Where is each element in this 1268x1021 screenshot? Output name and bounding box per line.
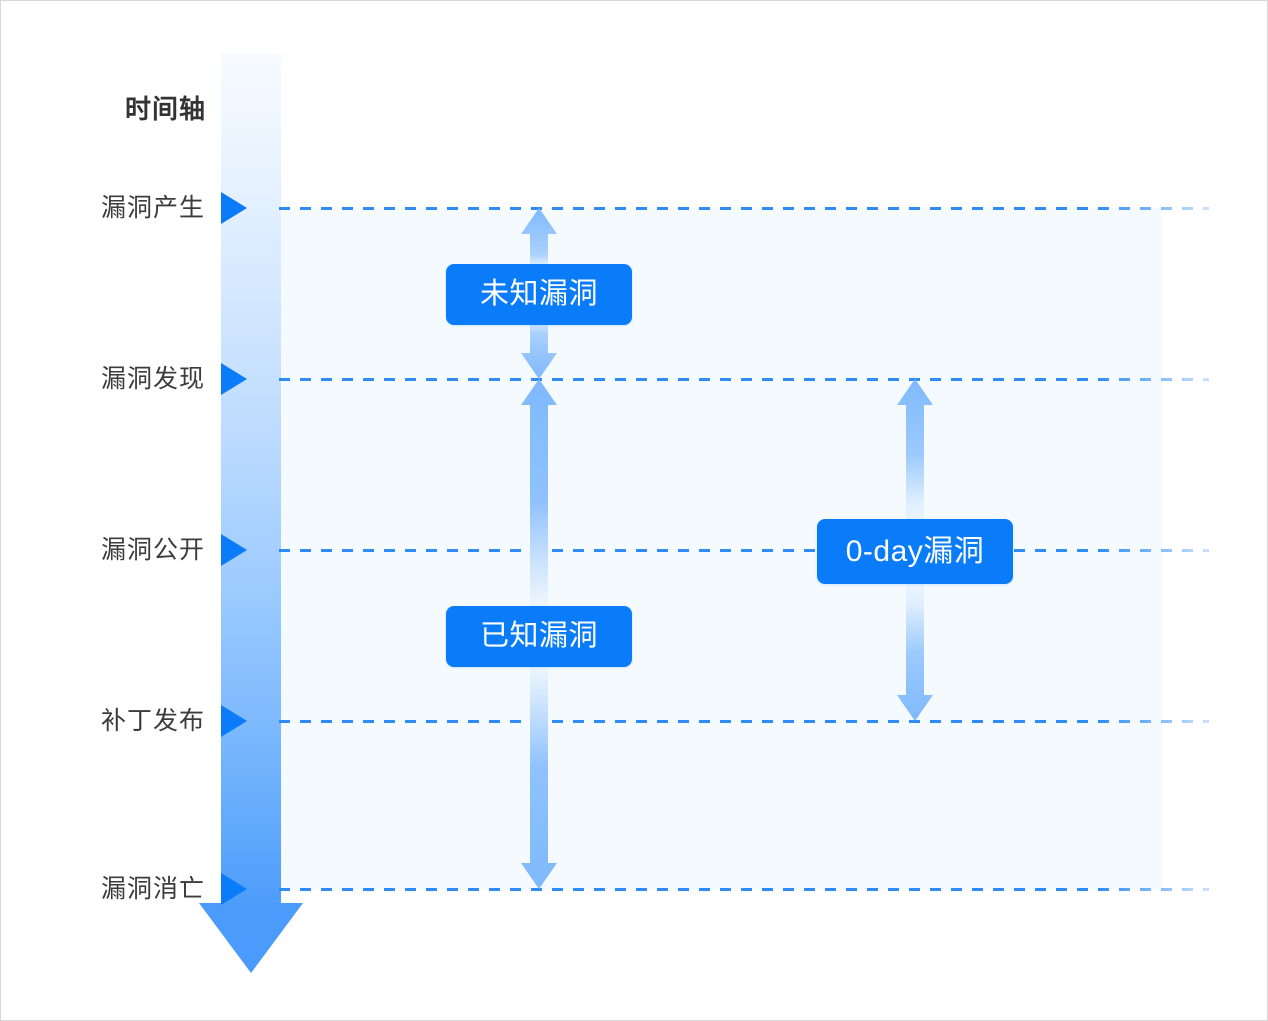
timeline-bar [221, 53, 281, 905]
label-box-known-vulnerability[interactable]: 已知漏洞 [446, 606, 632, 667]
label-box-zero-day-vulnerability[interactable]: 0-day漏洞 [817, 519, 1013, 584]
node-label: 漏洞发现 [101, 367, 205, 392]
triangle-marker-icon [221, 363, 247, 395]
triangle-marker-icon [221, 705, 247, 737]
dash-line-patch-released [279, 720, 1209, 723]
label-box-text: 未知漏洞 [480, 280, 598, 309]
dash-line-vuln-disclosed [279, 549, 1209, 552]
node-label: 漏洞公开 [101, 538, 205, 563]
node-label: 漏洞消亡 [101, 877, 205, 902]
node-vuln-created: 漏洞产生 [1, 191, 261, 225]
node-vuln-discovered: 漏洞发现 [1, 362, 261, 396]
triangle-marker-icon [221, 192, 247, 224]
vulnerability-lifecycle-diagram: 时间轴 漏洞产生 漏洞发现 漏洞公开 补丁发布 漏洞消亡 [0, 0, 1268, 1021]
node-label: 漏洞产生 [101, 196, 205, 221]
page-title: 时间轴 [1, 89, 206, 126]
node-label: 补丁发布 [101, 709, 205, 734]
node-patch-released: 补丁发布 [1, 704, 261, 738]
node-vuln-eol: 漏洞消亡 [1, 872, 261, 906]
dash-line-vuln-discovered [279, 378, 1209, 381]
label-box-text: 已知漏洞 [480, 622, 598, 651]
triangle-marker-icon [221, 534, 247, 566]
label-box-text: 0-day漏洞 [846, 537, 985, 567]
timeline-arrowhead-icon [199, 903, 303, 973]
label-box-unknown-vulnerability[interactable]: 未知漏洞 [446, 264, 632, 325]
node-vuln-disclosed: 漏洞公开 [1, 533, 261, 567]
dash-line-vuln-created [279, 207, 1209, 210]
dash-line-vuln-eol [279, 888, 1209, 891]
triangle-marker-icon [221, 873, 247, 905]
